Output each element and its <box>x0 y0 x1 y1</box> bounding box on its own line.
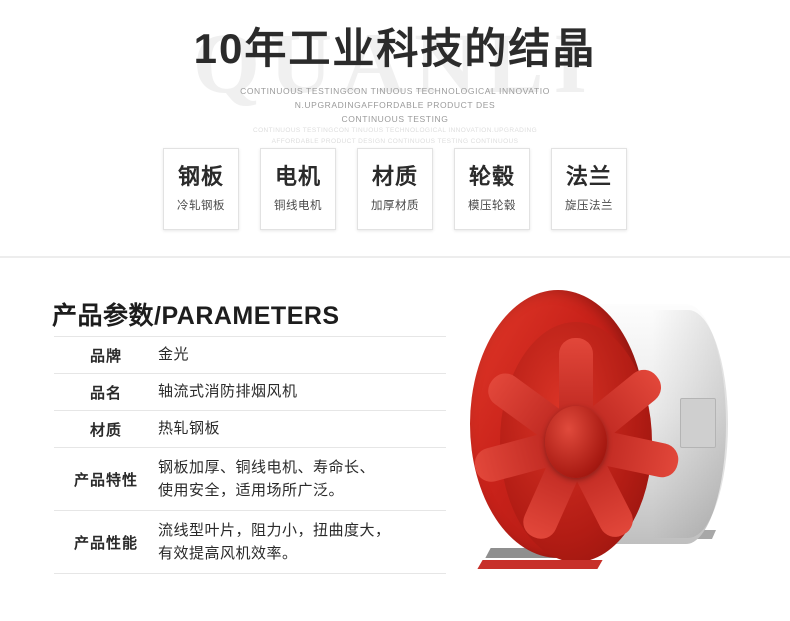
spec-label: 品名 <box>54 374 158 411</box>
hero-subtitle-line-2: N.UPGRADINGAFFORDABLE PRODUCT DES <box>0 98 790 112</box>
product-photo-axial-fan <box>452 272 782 617</box>
feature-card-material: 材质 加厚材质 <box>357 148 433 230</box>
spec-table: 品牌 金光 品名 轴流式消防排烟风机 材质 热轧钢板 产品特性 钢板加厚、铜线电… <box>54 336 446 574</box>
spec-value: 钢板加厚、铜线电机、寿命长、 使用安全，适用场所广泛。 <box>158 448 446 511</box>
fan-hub <box>545 406 607 478</box>
feature-card-title: 法兰 <box>566 165 612 189</box>
feature-card-steel-plate: 钢板 冷轧钢板 <box>163 148 239 230</box>
hero-subtitle: CONTINUOUS TESTINGCON TINUOUS TECHNOLOGI… <box>0 84 790 147</box>
page-title: 产品参数/PARAMETERS <box>52 296 340 332</box>
feature-card-subtitle: 模压轮毂 <box>468 197 516 213</box>
table-row: 产品性能 流线型叶片，阻力小，扭曲度大， 有效提高风机效率。 <box>54 511 446 574</box>
feature-card-subtitle: 加厚材质 <box>371 197 419 213</box>
hero-subtitle-line-1: CONTINUOUS TESTINGCON TINUOUS TECHNOLOGI… <box>0 84 790 98</box>
spec-label: 材质 <box>54 411 158 448</box>
table-row: 产品特性 钢板加厚、铜线电机、寿命长、 使用安全，适用场所广泛。 <box>54 448 446 511</box>
hero-subtitle-line-4: CONTINUOUS TESTINGCON TINUOUS TECHNOLOGI… <box>0 126 790 137</box>
spec-label: 产品特性 <box>54 448 158 511</box>
spec-value: 金光 <box>158 337 446 374</box>
table-row: 品牌 金光 <box>54 337 446 374</box>
feature-card-list: 钢板 冷轧钢板 电机 铜线电机 材质 加厚材质 轮毂 模压轮毂 法兰 旋压法兰 <box>0 148 790 230</box>
feature-card-hub: 轮毂 模压轮毂 <box>454 148 530 230</box>
feature-card-flange: 法兰 旋压法兰 <box>551 148 627 230</box>
feature-card-title: 材质 <box>372 165 418 189</box>
feature-card-title: 电机 <box>275 165 321 189</box>
feature-card-subtitle: 旋压法兰 <box>565 197 613 213</box>
spec-value: 流线型叶片，阻力小，扭曲度大， 有效提高风机效率。 <box>158 511 446 574</box>
feature-card-subtitle: 冷轧钢板 <box>177 197 225 213</box>
spec-value: 轴流式消防排烟风机 <box>158 374 446 411</box>
feature-card-title: 钢板 <box>178 165 224 189</box>
feature-card-motor: 电机 铜线电机 <box>260 148 336 230</box>
hero-subtitle-line-3: CONTINUOUS TESTING <box>0 112 790 126</box>
parameters-section: 产品参数/PARAMETERS 品牌 金光 品名 轴流式消防排烟风机 材质 热轧… <box>0 258 790 621</box>
hero-title: 10年工业科技的结晶 <box>0 24 790 74</box>
fan-inner-ring <box>500 322 652 562</box>
spec-value: 热轧钢板 <box>158 411 446 448</box>
fan-front-ring <box>470 290 646 558</box>
table-row: 材质 热轧钢板 <box>54 411 446 448</box>
fan-base-bar <box>477 560 602 569</box>
feature-card-title: 轮毂 <box>469 165 515 189</box>
table-row: 品名 轴流式消防排烟风机 <box>54 374 446 411</box>
fan-junction-box <box>680 398 716 448</box>
hero-banner: QUANLI 10年工业科技的结晶 CONTINUOUS TESTINGCON … <box>0 0 790 258</box>
hero-subtitle-line-5: AFFORDABLE PRODUCT DESIGN CONTINUOUS TES… <box>0 137 790 148</box>
spec-label: 品牌 <box>54 337 158 374</box>
feature-card-subtitle: 铜线电机 <box>274 197 322 213</box>
spec-label: 产品性能 <box>54 511 158 574</box>
